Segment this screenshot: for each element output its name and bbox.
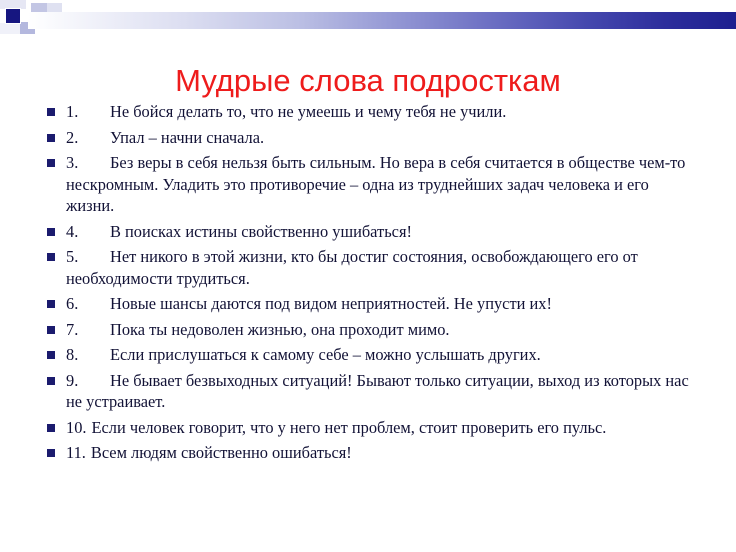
list-item-row: 2.Упал – начни сначала. bbox=[66, 127, 696, 149]
list-item-number: 1. bbox=[66, 101, 84, 123]
list-item-text: Не бывает безвыходных ситуаций! Бывают т… bbox=[66, 371, 689, 412]
list-item-number: 3. bbox=[66, 152, 84, 174]
list-item-number: 6. bbox=[66, 293, 84, 315]
decoration-square-pale-3 bbox=[0, 23, 20, 34]
list-item: 8.Если прислушаться к самому себе – можн… bbox=[40, 344, 696, 366]
list-item-row: 6.Новые шансы даются под видом неприятно… bbox=[66, 293, 696, 315]
square-bullet-icon bbox=[47, 253, 55, 261]
list-item-text: Не бойся делать то, что не умеешь и чему… bbox=[110, 102, 506, 121]
list-item-number: 9. bbox=[66, 370, 84, 392]
list-item-number: 10. bbox=[66, 417, 87, 439]
list-item: 4.В поисках истины свойственно ушибаться… bbox=[40, 221, 696, 243]
page-title: Мудрые слова подросткам bbox=[0, 61, 736, 101]
list-item-number: 4. bbox=[66, 221, 84, 243]
square-bullet-icon bbox=[47, 134, 55, 142]
list-item-text: Без веры в себя нельзя быть сильным. Но … bbox=[66, 153, 685, 215]
square-bullet-icon bbox=[47, 377, 55, 385]
header-gradient-bar bbox=[28, 12, 736, 29]
list-item-row: 9.Не бывает безвыходных ситуаций! Бывают… bbox=[66, 370, 696, 413]
list-item: 10.Если человек говорит, что у него нет … bbox=[40, 417, 696, 439]
slide-canvas: Мудрые слова подросткам 1.Не бойся делат… bbox=[0, 0, 736, 552]
square-bullet-icon bbox=[47, 326, 55, 334]
square-bullet-icon bbox=[47, 424, 55, 432]
square-bullet-icon bbox=[47, 108, 55, 116]
list-item-row: 4.В поисках истины свойственно ушибаться… bbox=[66, 221, 696, 243]
list-item-row: 1.Не бойся делать то, что не умеешь и че… bbox=[66, 101, 696, 123]
list-item-text: Нет никого в этой жизни, кто бы достиг с… bbox=[66, 247, 638, 288]
list-item: 3.Без веры в себя нельзя быть сильным. Н… bbox=[40, 152, 696, 217]
list-item: 7.Пока ты недоволен жизнью, она проходит… bbox=[40, 319, 696, 341]
list-item-row: 3.Без веры в себя нельзя быть сильным. Н… bbox=[66, 152, 696, 217]
list-item-number: 7. bbox=[66, 319, 84, 341]
list-item-text: Упал – начни сначала. bbox=[110, 128, 264, 147]
list-item-text: Новые шансы даются под видом неприятност… bbox=[110, 294, 552, 313]
list-item-text: Всем людям свойственно ошибаться! bbox=[91, 443, 352, 462]
list-item-number: 5. bbox=[66, 246, 84, 268]
list-item-text: Если человек говорит, что у него нет про… bbox=[92, 418, 607, 437]
list-item: 11.Всем людям свойственно ошибаться! bbox=[40, 442, 696, 464]
list-item-row: 7.Пока ты недоволен жизнью, она проходит… bbox=[66, 319, 696, 341]
list-item-row: 10.Если человек говорит, что у него нет … bbox=[66, 417, 696, 439]
square-bullet-icon bbox=[47, 300, 55, 308]
list-item: 1.Не бойся делать то, что не умеешь и че… bbox=[40, 101, 696, 123]
list-item-number: 8. bbox=[66, 344, 84, 366]
list-item: 2.Упал – начни сначала. bbox=[40, 127, 696, 149]
list-item-number: 2. bbox=[66, 127, 84, 149]
list-item-text: В поисках истины свойственно ушибаться! bbox=[110, 222, 412, 241]
list-item-text: Если прислушаться к самому себе – можно … bbox=[110, 345, 541, 364]
list-item: 5.Нет никого в этой жизни, кто бы достиг… bbox=[40, 246, 696, 289]
list-item-row: 8.Если прислушаться к самому себе – можн… bbox=[66, 344, 696, 366]
decoration-square-dark bbox=[6, 9, 20, 23]
list-item: 6.Новые шансы даются под видом неприятно… bbox=[40, 293, 696, 315]
square-bullet-icon bbox=[47, 228, 55, 236]
square-bullet-icon bbox=[47, 159, 55, 167]
decoration-square-pale-1 bbox=[0, 0, 26, 9]
list-item-number: 11. bbox=[66, 442, 86, 464]
square-bullet-icon bbox=[47, 449, 55, 457]
list-item-row: 11.Всем людям свойственно ошибаться! bbox=[66, 442, 696, 464]
advice-list: 1.Не бойся делать то, что не умеешь и че… bbox=[40, 101, 696, 468]
list-item-text: Пока ты недоволен жизнью, она проходит м… bbox=[110, 320, 450, 339]
square-bullet-icon bbox=[47, 351, 55, 359]
list-item-row: 5.Нет никого в этой жизни, кто бы достиг… bbox=[66, 246, 696, 289]
list-item: 9.Не бывает безвыходных ситуаций! Бывают… bbox=[40, 370, 696, 413]
